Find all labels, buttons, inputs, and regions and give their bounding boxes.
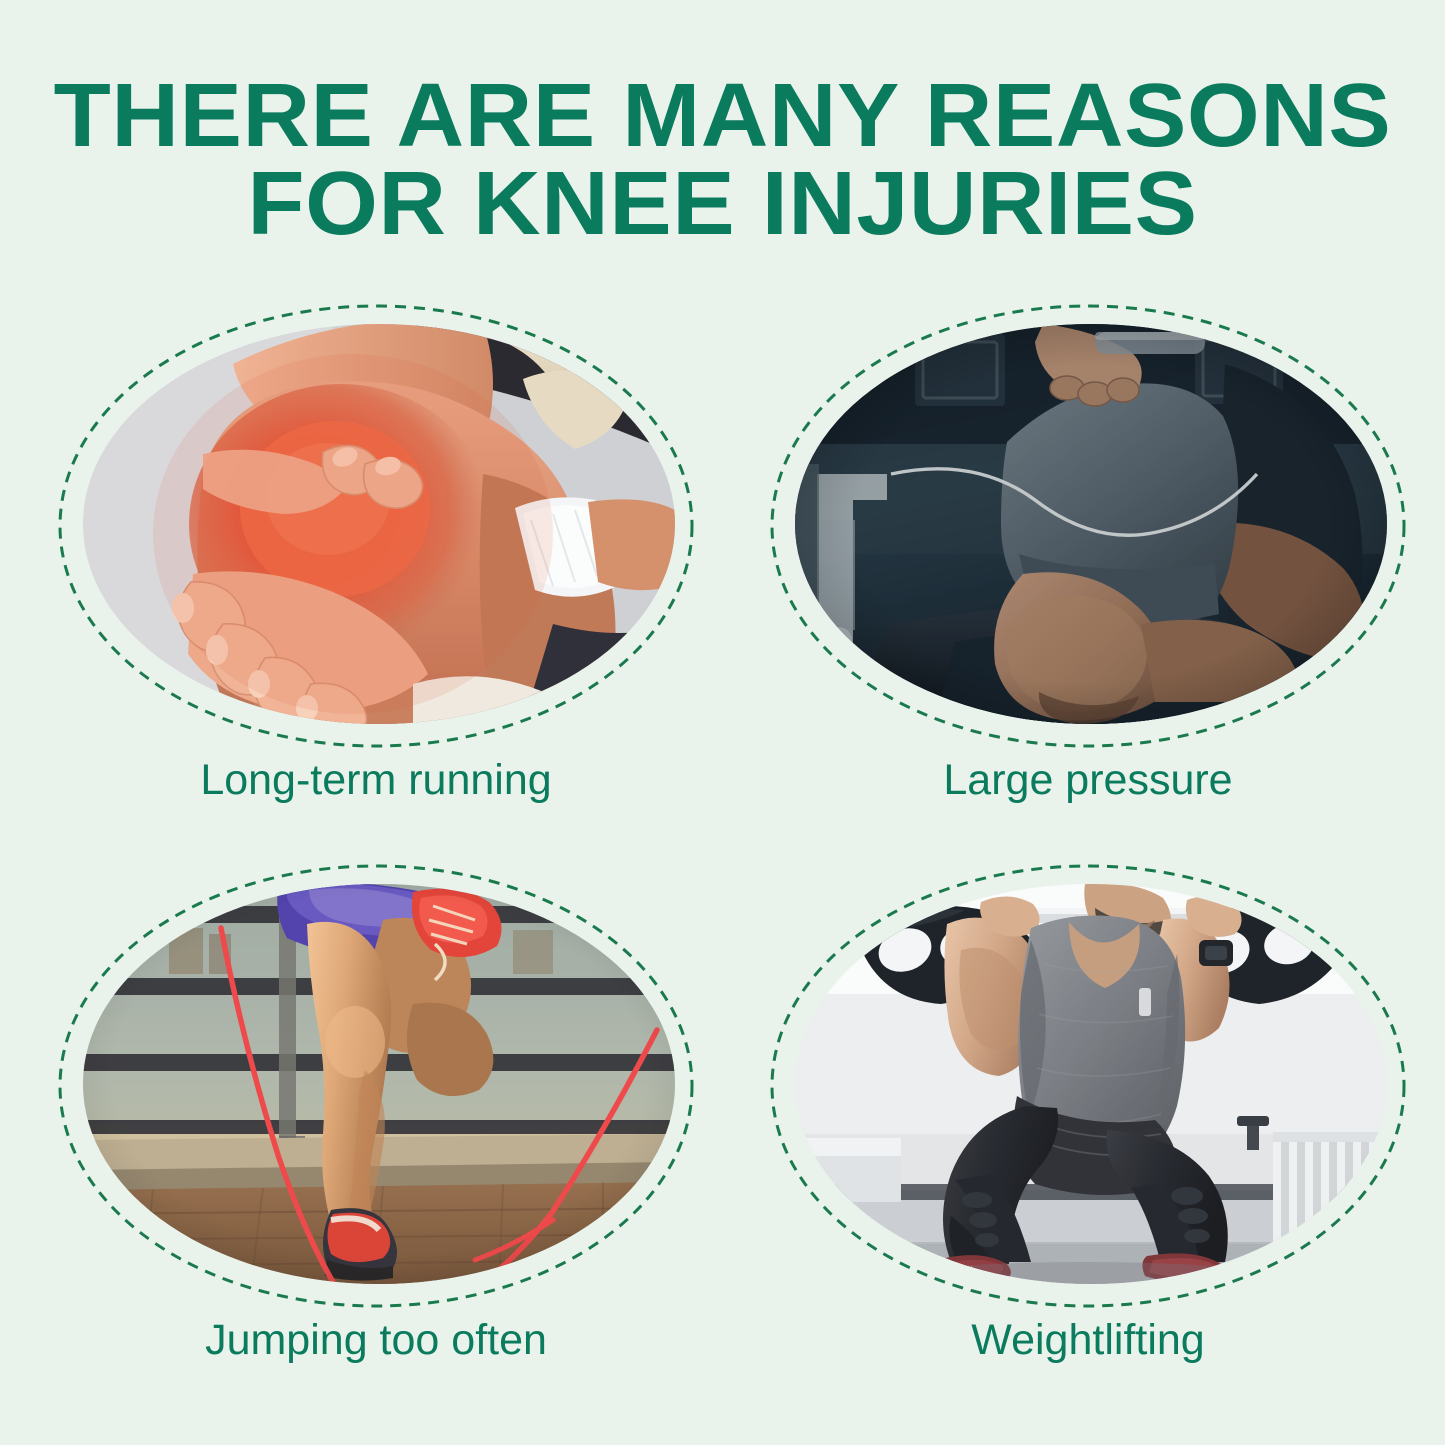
reason-card-long-term-running: Long-term running [56,302,696,750]
reason-card-weightlifting: APL Weightlifting [768,862,1408,1310]
photo-long-term-running [83,324,675,724]
poster-root: THERE ARE MANY REASONS FOR KNEE INJURIES [0,0,1445,1445]
photo-large-pressure [795,324,1387,724]
card-caption: Weightlifting [768,1314,1408,1366]
card-caption: Jumping too often [56,1314,696,1366]
card-caption: Large pressure [768,754,1408,806]
photo-weightlifting: APL [795,884,1387,1284]
page-title-line-1: THERE ARE MANY REASONS [0,72,1445,160]
reason-card-large-pressure: Large pressure [768,302,1408,750]
page-title: THERE ARE MANY REASONS FOR KNEE INJURIES [0,72,1445,248]
oval-frame: Large pressure [768,302,1408,750]
oval-frame: APL Weightlifting [768,862,1408,1310]
oval-frame: Jumping too often [56,862,696,1310]
reason-card-jumping-too-often: Jumping too often [56,862,696,1310]
card-caption: Long-term running [56,754,696,806]
oval-frame: Long-term running [56,302,696,750]
page-title-line-2: FOR KNEE INJURIES [0,160,1445,248]
photo-jumping-too-often [83,884,675,1284]
